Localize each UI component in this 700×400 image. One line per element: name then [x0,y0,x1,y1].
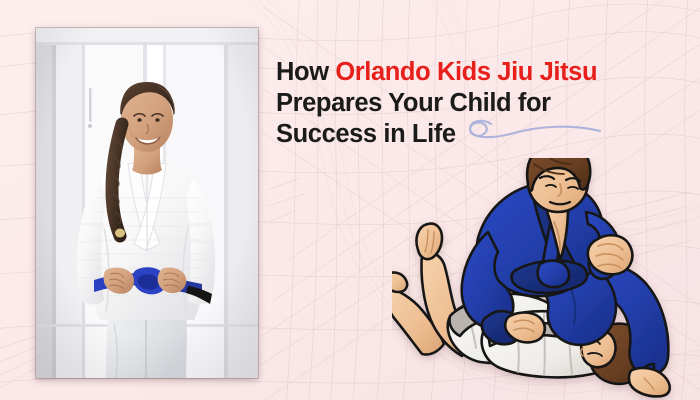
headline: How Orlando Kids Jiu Jitsu Prepares Your… [276,57,676,150]
headline-line-1: How Orlando Kids Jiu Jitsu [276,57,676,88]
headline-line-3: Success in Life [276,119,676,150]
judo-fighters-illustration [392,158,700,400]
judoka-photo [36,28,258,378]
headline-line-1-prefix: How [276,58,335,86]
headline-accent: Orlando Kids Jiu Jitsu [335,58,597,86]
jiu-jitsu-promo-banner: How Orlando Kids Jiu Jitsu Prepares Your… [0,0,700,400]
headline-line-2: Prepares Your Child for [276,88,676,119]
